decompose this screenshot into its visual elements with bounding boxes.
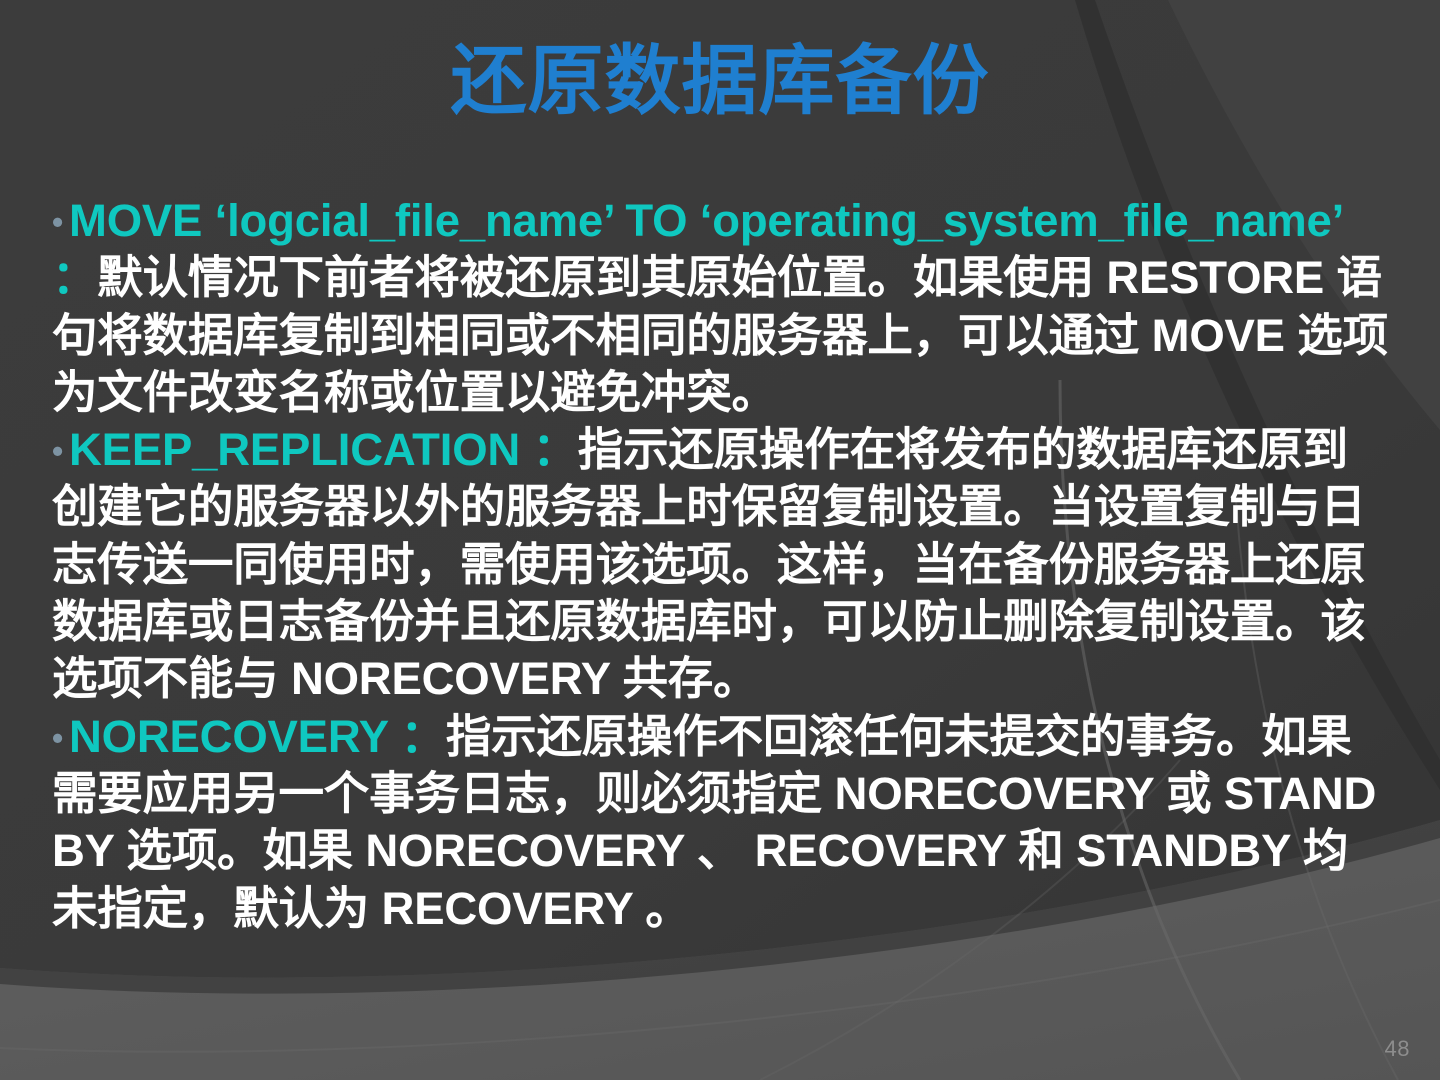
slide-body: •MOVE ‘logcial_file_name’ TO ‘operating_… [52, 192, 1392, 937]
presentation-slide: 还原数据库备份 •MOVE ‘logcial_file_name’ TO ‘op… [0, 0, 1440, 1080]
bullet-marker-icon: • [52, 433, 69, 469]
bullet-item: •KEEP_REPLICATION ：指示还原操作在将发布的数据库还原到创建它的… [52, 421, 1392, 707]
bullet-text: 默认情况下前者将被还原到其原始位置。如果使用 RESTORE 语句将数据库复制到… [52, 252, 1388, 418]
bullet-item: •MOVE ‘logcial_file_name’ TO ‘operating_… [52, 192, 1392, 421]
bullet-marker-icon: • [52, 720, 69, 756]
bullet-item: •NORECOVERY ：指示还原操作不回滚任何未提交的事务。如果需要应用另一个… [52, 708, 1392, 937]
slide-page-number: 48 [1385, 1036, 1410, 1062]
bullet-keyword: NORECOVERY ： [69, 711, 446, 762]
slide-title: 还原数据库备份 [0, 44, 1440, 120]
bullet-keyword: KEEP_REPLICATION ： [69, 424, 578, 475]
bullet-marker-icon: • [52, 204, 69, 240]
